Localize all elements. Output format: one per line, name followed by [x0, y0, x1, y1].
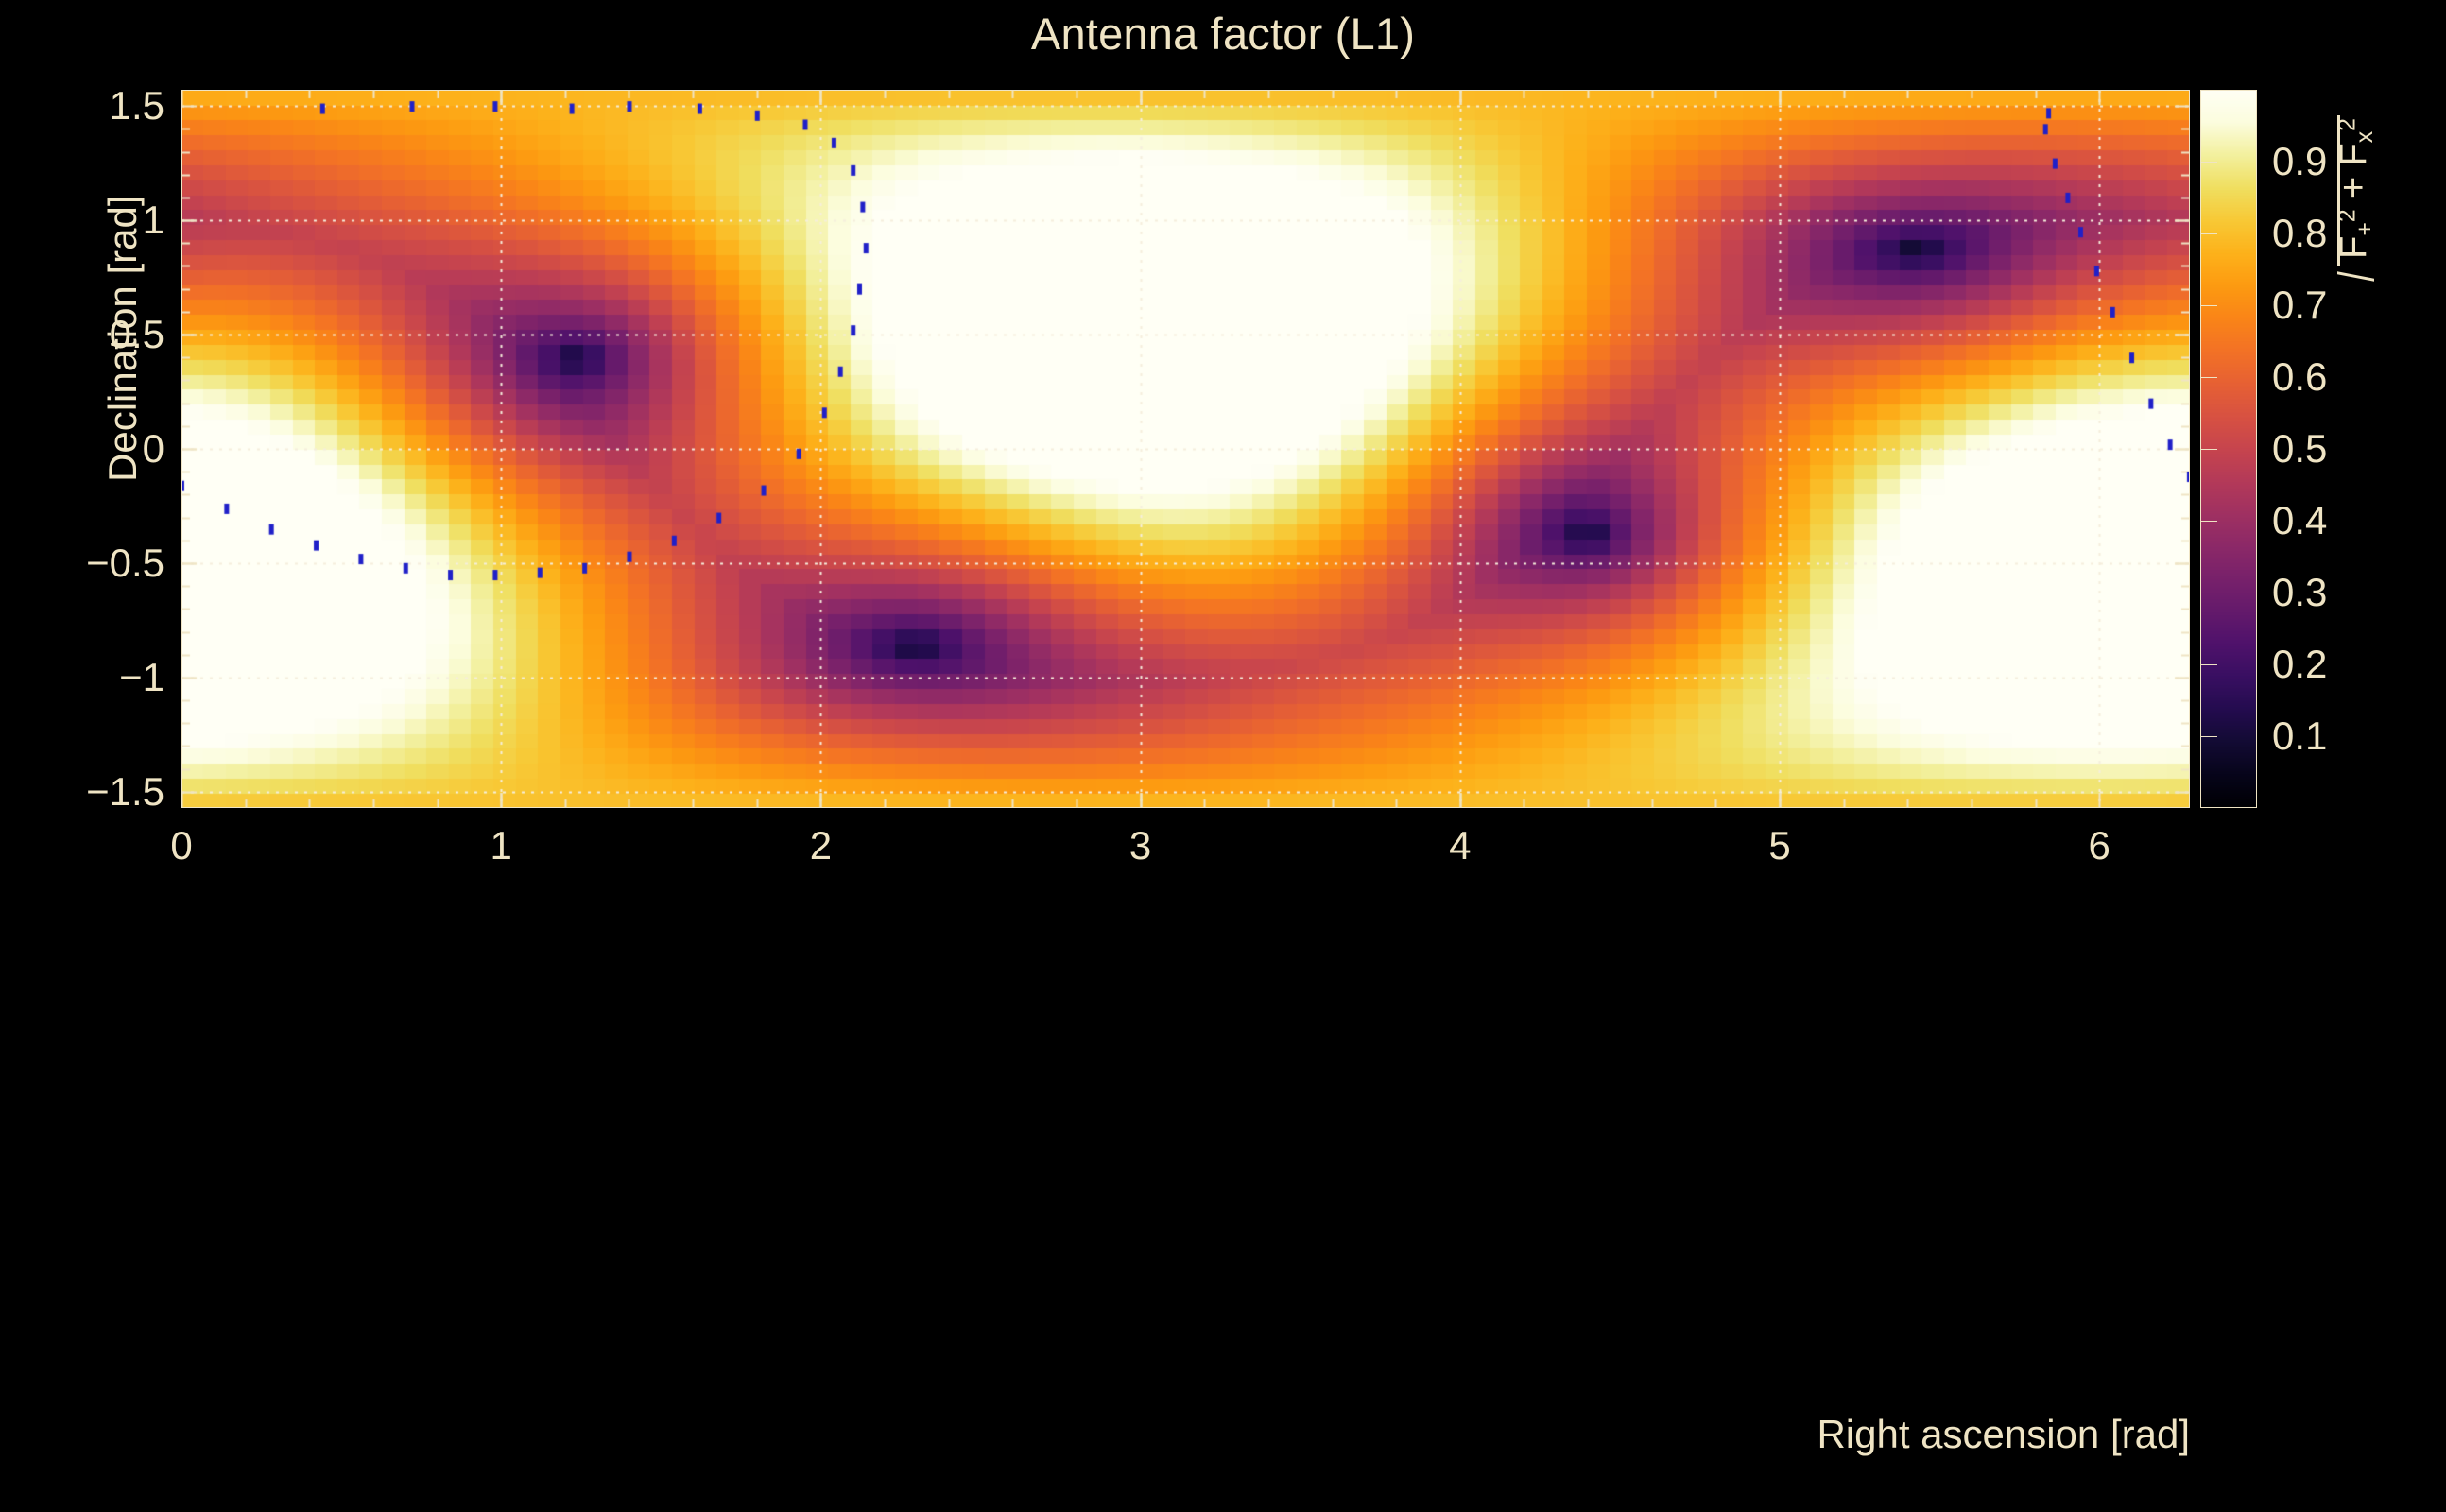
colorbar-tick-mark	[2200, 305, 2217, 306]
x-axis-title: Right ascension [rad]	[1817, 1412, 2190, 1457]
y-tick-label: 1	[143, 198, 164, 243]
page-title: Antenna factor (L1)	[0, 8, 2446, 60]
colorbar-title: F+2 + Fx2	[2333, 118, 2379, 283]
plot-frame	[181, 90, 2190, 808]
x-tick-label: 6	[2089, 823, 2110, 868]
colorbar-tick-mark	[2200, 664, 2217, 665]
y-tick-label: −1.5	[86, 769, 164, 815]
colorbar-tick-label: 0.8	[2272, 211, 2327, 256]
heatmap-image	[181, 90, 2190, 808]
colorbar-tick-mark	[2200, 377, 2217, 378]
colorbar-tick-label: 0.5	[2272, 426, 2327, 472]
colorbar-tick-mark	[2200, 449, 2217, 450]
y-tick-label: 0	[143, 426, 164, 472]
colorbar-tick-label: 0.1	[2272, 713, 2327, 759]
y-tick-label: −0.5	[86, 541, 164, 586]
z-label-text: F+2 + Fx2	[2333, 118, 2374, 259]
colorbar-tick-mark	[2200, 736, 2217, 737]
x-tick-label: 4	[1449, 823, 1471, 868]
x-tick-label: 1	[491, 823, 512, 868]
x-tick-label: 2	[810, 823, 832, 868]
y-axis-title: Declination [rad]	[100, 196, 146, 483]
colorbar-tick-label: 0.4	[2272, 498, 2327, 543]
x-tick-label: 0	[170, 823, 192, 868]
y-tick-label: 1.5	[110, 83, 164, 129]
sqrt-icon: F+2 + Fx2	[2333, 118, 2379, 283]
y-tick-label: −1	[119, 655, 164, 700]
colorbar-tick-label: 0.7	[2272, 283, 2327, 328]
colorbar-tick-mark	[2200, 521, 2217, 522]
plot-canvas: Antenna factor (L1) 0123456 −1.5−1−0.500…	[0, 0, 2446, 1512]
colorbar-tick-label: 0.6	[2272, 354, 2327, 400]
colorbar-tick-mark	[2200, 162, 2217, 163]
x-tick-label: 3	[1129, 823, 1151, 868]
colorbar-tick-mark	[2200, 593, 2217, 593]
colorbar-tick-label: 0.2	[2272, 642, 2327, 687]
colorbar-tick-label: 0.3	[2272, 570, 2327, 615]
colorbar-tick-mark	[2200, 233, 2217, 234]
colorbar-tick-label: 0.9	[2272, 139, 2327, 184]
x-tick-label: 5	[1768, 823, 1790, 868]
